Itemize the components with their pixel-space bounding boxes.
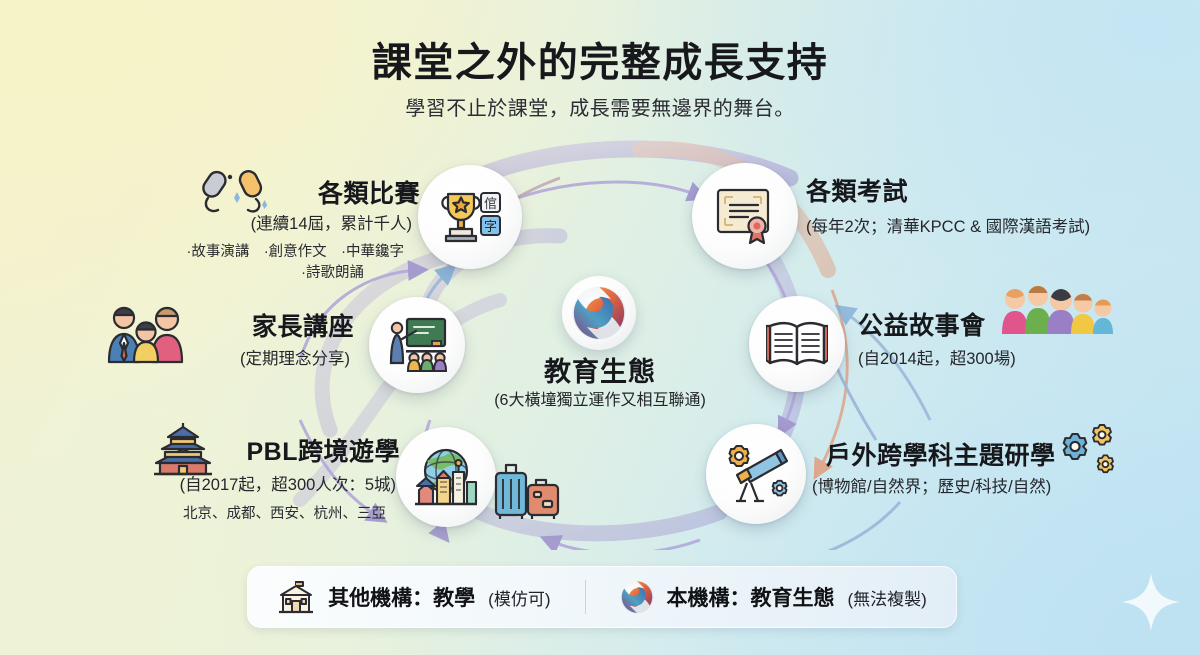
center-title: 教育生態: [440, 350, 760, 389]
page-title: 課堂之外的完整成長支持: [0, 30, 1200, 88]
legend-other-bold: 其他機構：教學: [328, 582, 475, 612]
classroom-icon: [386, 317, 448, 373]
legend-ours-bold: 本機構：教育生態: [667, 582, 835, 612]
node-outdoor-research[interactable]: [706, 424, 806, 524]
branch-heading-competitions: 各類比賽: [0, 174, 420, 210]
branch-detail-pbl-cities: 北京、成都、西安、杭州、三亞: [0, 502, 386, 523]
gears-icon: [1062, 424, 1124, 485]
open-book-icon: [766, 320, 828, 368]
legend-item-other[interactable]: 其他機構：教學 (模仿可): [277, 579, 550, 615]
legend-divider: [585, 580, 586, 614]
school-building-icon: [277, 579, 315, 615]
branch-detail-competitions-1: ·故事演講 ·創意作文 ·中華鑱字: [0, 240, 404, 261]
legend-bar: 其他機構：教學 (模仿可) 本機構：教育生態 (無法複製): [247, 566, 957, 628]
node-exams[interactable]: [692, 163, 798, 269]
branch-detail-competitions-2: ·詩歌朗誦: [0, 261, 364, 282]
center-logo[interactable]: [562, 276, 636, 350]
branch-heading-pbl: PBL跨境遊學: [0, 432, 400, 468]
branch-note-pbl: (自2017起，超300人次：5城): [0, 471, 396, 495]
node-competitions[interactable]: 倌 字: [418, 165, 522, 269]
branch-note-story-club: (自2014起，超300場): [858, 345, 1016, 369]
page-subtitle: 學習不止於課堂，成長需要無邊界的舞台。: [0, 92, 1200, 121]
infographic-canvas: 課堂之外的完整成長支持 學習不止於課堂，成長需要無邊界的舞台。: [0, 0, 1200, 655]
swirl-logo-icon: [620, 580, 654, 614]
node-pbl[interactable]: [396, 427, 496, 527]
certificate-icon: [714, 187, 776, 245]
branch-heading-exams: 各類考試: [806, 172, 908, 208]
branch-note-competitions: (連續14屆，累計千人): [0, 210, 412, 234]
branch-note-exams: (每年2次；清華KPCC & 國際漢語考試): [806, 213, 1090, 237]
node-story-club[interactable]: [749, 296, 845, 392]
luggage-icon: [488, 459, 566, 526]
branch-note-parent-lecture: (定期理念分享): [0, 345, 350, 369]
branch-note-outdoor: (博物館/自然界；歷史/科技/自然): [812, 473, 1051, 497]
svg-text:倌: 倌: [484, 197, 497, 212]
legend-other-note: (模仿可): [488, 585, 550, 610]
branch-heading-story-club: 公益故事會: [858, 306, 986, 342]
branch-heading-outdoor: 戶外跨學科主題研學: [826, 436, 1056, 472]
people-group-icon: [1000, 284, 1114, 339]
svg-text:字: 字: [484, 220, 497, 235]
legend-ours-note: (無法複製): [848, 585, 927, 610]
center-subtitle: (6大橫墥獨立運作又相互聯通): [420, 386, 780, 410]
sparkle-icon: [1120, 571, 1182, 633]
globe-city-icon: [413, 448, 479, 506]
trophy-icon: 倌 字: [437, 189, 503, 245]
swirl-logo-icon: [571, 285, 627, 341]
legend-item-ours[interactable]: 本機構：教育生態 (無法複製): [620, 580, 927, 614]
telescope-icon: [724, 445, 788, 503]
branch-heading-parent-lecture: 家長講座: [0, 307, 354, 343]
